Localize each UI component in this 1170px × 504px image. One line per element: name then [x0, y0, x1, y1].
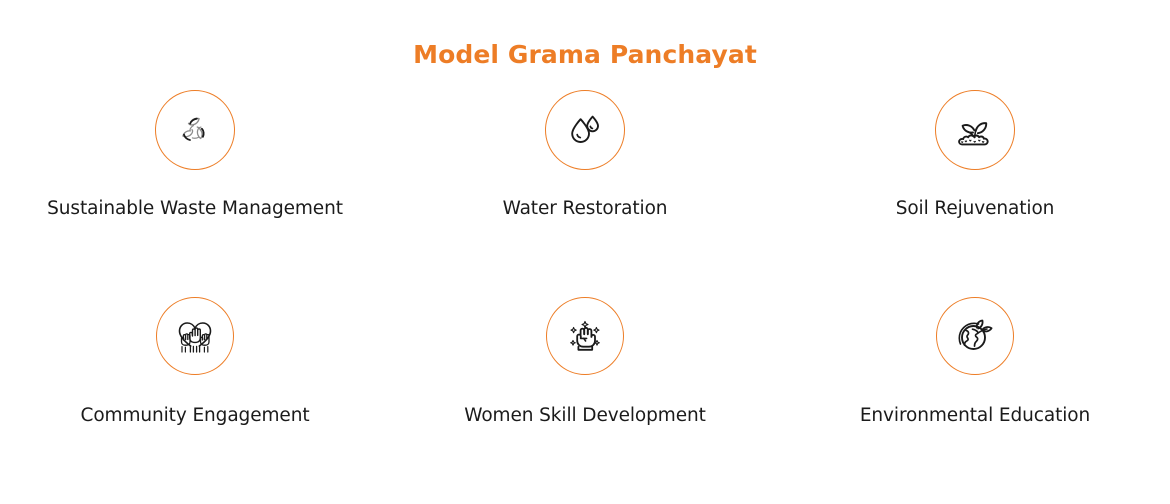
feature-label: Water Restoration	[503, 198, 668, 219]
feature-grid: Sustainable Waste Management Water Resto…	[0, 90, 1170, 504]
feature-label: Women Skill Development	[464, 405, 706, 426]
raised-fist-sparkle-icon	[561, 312, 609, 360]
feature-label: Environmental Education	[860, 405, 1090, 426]
heart-hands-icon	[171, 312, 219, 360]
feature-label: Sustainable Waste Management	[47, 198, 343, 219]
icon-circle	[545, 90, 625, 170]
feature-item-environmental-education[interactable]: Environmental Education	[780, 297, 1170, 504]
feature-row: Community Engagement	[0, 297, 1170, 504]
globe-leaves-icon	[950, 312, 1000, 360]
icon-circle	[156, 297, 234, 375]
page-title: Model Grama Panchayat	[0, 40, 1170, 69]
icon-circle	[155, 90, 235, 170]
sprout-soil-icon	[950, 106, 1000, 154]
feature-item-sustainable-waste-management[interactable]: Sustainable Waste Management	[0, 90, 390, 297]
water-droplets-icon	[561, 106, 609, 154]
recycle-leaves-icon	[171, 106, 219, 154]
icon-circle	[936, 297, 1014, 375]
feature-item-water-restoration[interactable]: Water Restoration	[390, 90, 780, 297]
feature-item-soil-rejuvenation[interactable]: Soil Rejuvenation	[780, 90, 1170, 297]
feature-row: Sustainable Waste Management Water Resto…	[0, 90, 1170, 297]
icon-circle	[935, 90, 1015, 170]
feature-label: Soil Rejuvenation	[896, 198, 1055, 219]
model-grama-panchayat-infographic: Model Grama Panchayat	[0, 0, 1170, 485]
feature-item-women-skill-development[interactable]: Women Skill Development	[390, 297, 780, 504]
feature-label: Community Engagement	[81, 405, 310, 426]
feature-item-community-engagement[interactable]: Community Engagement	[0, 297, 390, 504]
icon-circle	[546, 297, 624, 375]
